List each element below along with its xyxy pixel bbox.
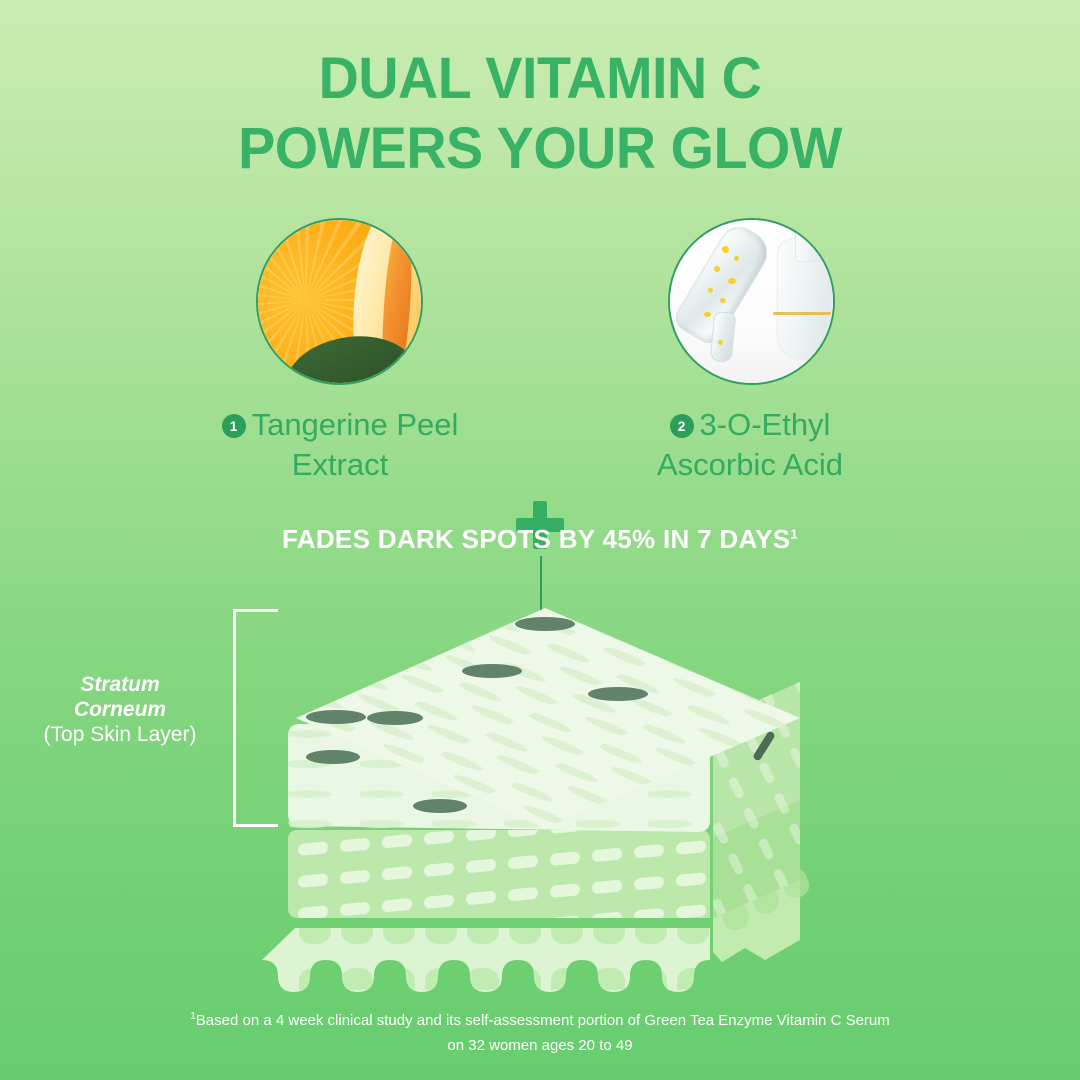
serum-dropper-image [668, 218, 835, 385]
gold-fleck-icon [728, 278, 736, 284]
headline-line-1: DUAL VITAMIN C [319, 46, 762, 111]
callout-pointer-dot [533, 612, 549, 628]
headline-line-2: POWERS YOUR GLOW [22, 114, 1059, 184]
ingredient-1-line-2: Extract [150, 445, 530, 485]
stratum-corneum-front-face [285, 722, 715, 834]
gold-fleck-icon [704, 312, 711, 317]
claim-text: FADES DARK SPOTS BY 45% IN 7 DAYS [282, 524, 790, 554]
footnote: 1Based on a 4 week clinical study and it… [0, 1004, 1080, 1058]
gold-fleck-icon [708, 288, 713, 293]
stratum-corneum-side-face [700, 672, 810, 847]
footnote-line-2: on 32 women ages 20 to 49 [0, 1033, 1080, 1058]
serum-bottle-neck-icon [795, 226, 827, 262]
orange-slice-image [256, 218, 423, 385]
page-title: DUAL VITAMIN C POWERS YOUR GLOW [22, 44, 1059, 184]
gold-fleck-icon [720, 298, 726, 303]
ingredient-label-1: 1Tangerine Peel Extract [150, 405, 530, 485]
ingredient-2-line-1: 3-O-Ethyl [700, 407, 831, 442]
stratum-corneum-bracket [233, 609, 278, 827]
stratum-label-line-3: (Top Skin Layer) [20, 722, 220, 747]
ingredient-2-line-2: Ascorbic Acid [600, 445, 900, 485]
dark-spot [306, 617, 706, 725]
ingredient-label-2: 23-O-Ethyl Ascorbic Acid [600, 405, 900, 485]
serum-liquid-line [773, 312, 831, 315]
claim-footnote-marker: 1 [790, 526, 798, 541]
gold-fleck-icon [734, 256, 739, 261]
basal-layer [262, 864, 813, 992]
ingredient-badge-2: 2 [670, 414, 694, 438]
stratum-corneum-label: Stratum Corneum (Top Skin Layer) [20, 672, 220, 747]
callout-pointer-line [540, 556, 542, 618]
gold-fleck-icon [722, 246, 729, 253]
ingredient-1-line-1: Tangerine Peel [252, 407, 459, 442]
dark-spot [306, 750, 619, 813]
gold-fleck-icon [718, 340, 723, 345]
stratum-label-line-1: Stratum [20, 672, 220, 697]
epidermis-layer [285, 780, 810, 925]
footnote-line-1: Based on a 4 week clinical study and its… [196, 1012, 890, 1029]
gold-fleck-icon [714, 266, 720, 272]
ingredient-badge-1: 1 [222, 414, 246, 438]
dark-spot [714, 700, 776, 761]
claim-banner: FADES DARK SPOTS BY 45% IN 7 DAYS1 [0, 524, 1080, 555]
stratum-label-line-2: Corneum [20, 697, 220, 722]
